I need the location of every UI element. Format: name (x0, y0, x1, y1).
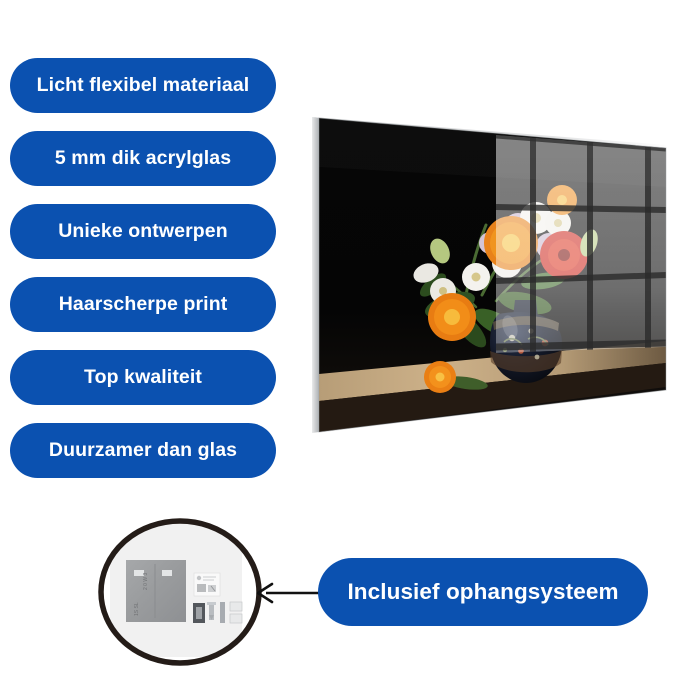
feature-pill-5[interactable]: Top kwaliteit (10, 350, 276, 405)
feature-pill-label: Top kwaliteit (84, 366, 202, 389)
spacer-pad-2 (230, 614, 242, 623)
instruction-card (194, 573, 220, 596)
feature-pill-label: Licht flexibel materiaal (37, 74, 250, 97)
feature-pill-3[interactable]: Unieke ontwerpen (10, 204, 276, 259)
callout-pill-label: Inclusief ophangsysteem (347, 579, 618, 605)
svg-text:1S SL: 1S SL (134, 602, 140, 616)
svg-text:2 0 W 3: 2 0 W 3 (143, 573, 149, 590)
callout-pill-hanging-system[interactable]: Inclusief ophangsysteem (318, 558, 648, 626)
metal-pin (220, 602, 225, 623)
feature-pill-label: 5 mm dik acrylglas (55, 147, 231, 170)
hanging-system-closeup: 2 0 W 3 1S SL (98, 518, 262, 666)
panel-left-edge (312, 117, 319, 433)
acrylic-print-panel (300, 95, 700, 445)
spacer-pad-1 (230, 602, 242, 611)
feature-pill-label: Duurzamer dan glas (49, 439, 237, 462)
arrow-left-glyph (252, 572, 328, 614)
feature-pill-label: Unieke ontwerpen (58, 220, 228, 243)
wall-anchor (193, 603, 205, 623)
feature-pill-4[interactable]: Haarscherpe print (10, 277, 276, 332)
panel-illustration (300, 95, 700, 445)
feature-pill-label: Haarscherpe print (59, 293, 228, 316)
feature-pill-6[interactable]: Duurzamer dan glas (10, 423, 276, 478)
feature-pill-2[interactable]: 5 mm dik acrylglas (10, 131, 276, 186)
feature-pill-1[interactable]: Licht flexibel materiaal (10, 58, 276, 113)
hanging-kit-illustration: 2 0 W 3 1S SL (98, 518, 262, 666)
panel-artwork (300, 95, 700, 445)
mounting-plate: 2 0 W 3 1S SL (126, 560, 186, 622)
arrow-left-icon (252, 572, 328, 614)
promo-image: Licht flexibel materiaal 5 mm dik acrylg… (0, 0, 700, 700)
